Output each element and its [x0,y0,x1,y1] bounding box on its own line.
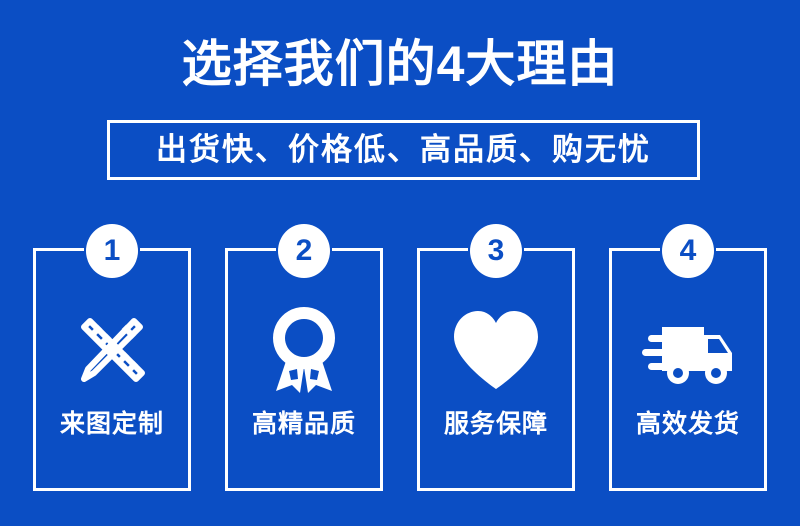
heart-icon [448,301,544,397]
feature-card-1[interactable]: 1 来 [33,248,191,491]
card-label: 高效发货 [636,409,740,439]
feature-card-3[interactable]: 3 服务保障 [417,248,575,491]
subtitle-text: 出货快、价格低、高品质、购无忧 [156,132,651,168]
card-number-badge: 4 [662,224,714,278]
card-number-label: 1 [104,236,121,266]
feature-card-list: 1 来 [33,248,767,491]
delivery-truck-icon [640,301,736,397]
card-label: 来图定制 [60,409,164,439]
card-number-label: 2 [296,236,313,266]
card-label: 服务保障 [444,409,548,439]
card-number-badge: 1 [86,224,138,278]
page-title: 选择我们的4大理由 [0,33,800,95]
card-label: 高精品质 [252,409,356,439]
subtitle-box: 出货快、价格低、高品质、购无忧 [107,120,700,180]
card-number-label: 3 [488,236,505,266]
ruler-pencil-icon [64,301,160,397]
feature-card-2[interactable]: 2 高精品质 [225,248,383,491]
medal-ribbon-icon [256,301,352,397]
card-number-badge: 3 [470,224,522,278]
promo-banner: 选择我们的4大理由 出货快、价格低、高品质、购无忧 1 [0,0,800,526]
card-number-label: 4 [680,236,697,266]
card-number-badge: 2 [278,224,330,278]
feature-card-4[interactable]: 4 [609,248,767,491]
